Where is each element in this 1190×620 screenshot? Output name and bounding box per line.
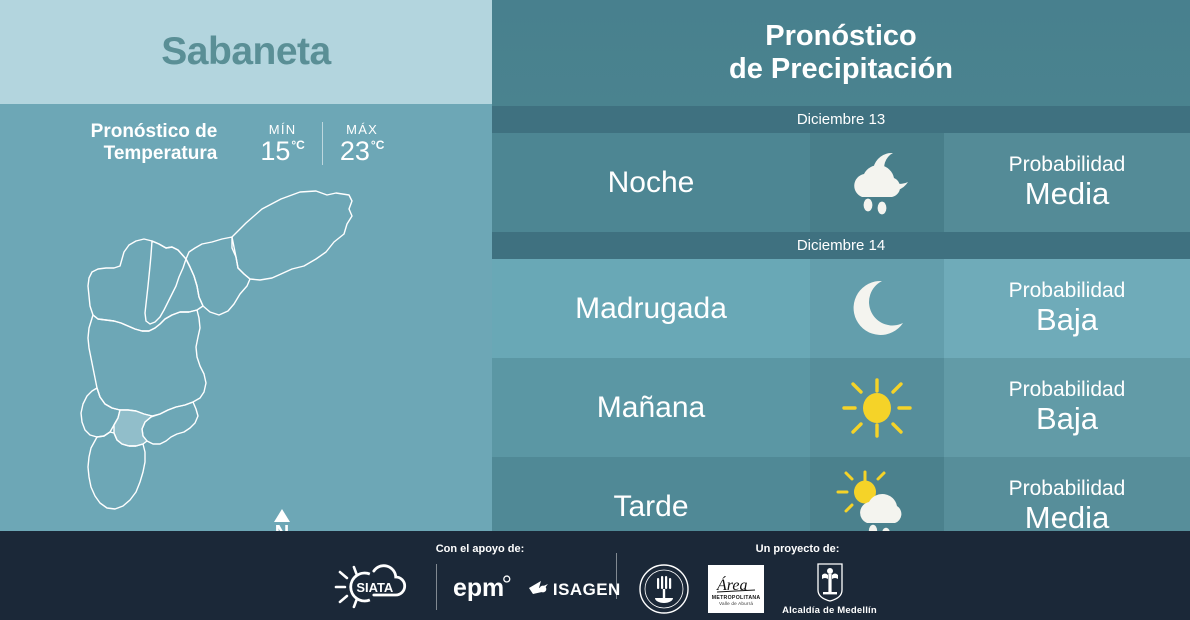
- date-label: Diciembre 14: [797, 237, 885, 254]
- area-sub2: Valle de Aburrá: [719, 601, 753, 606]
- temperature-values: MÍN 15 °C MÁX 23 °C: [243, 122, 401, 165]
- compass-arrow-icon: [274, 509, 290, 522]
- probability-cell-madrugada: Probabilidad Baja: [944, 259, 1190, 358]
- footer: Con el apoyo de: SIATA: [0, 531, 1190, 620]
- area-metropolitana-logo-icon[interactable]: Área METROPOLITANA Valle de Aburrá: [708, 565, 764, 613]
- epm-label: epm: [453, 574, 504, 602]
- forecast-row-madrugada[interactable]: Madrugada Probabilidad Baja: [492, 259, 1190, 358]
- temperature-min-unit: °C: [291, 139, 304, 151]
- temperature-max-unit: °C: [371, 139, 384, 151]
- weather-forecast-card: Sabaneta Pronóstico de Temperatura MÍN 1…: [0, 0, 1190, 620]
- temperature-max: MÁX 23 °C: [322, 122, 402, 165]
- isagen-logo-icon[interactable]: ISAGEN: [526, 572, 630, 602]
- date-label: Diciembre 13: [797, 111, 885, 128]
- weather-icon-cell-manana: [810, 358, 944, 457]
- period-label-noche: Noche: [492, 133, 810, 232]
- precipitation-panel: Pronóstico de Precipitación Diciembre 13…: [492, 0, 1190, 531]
- probability-level: Baja: [1036, 402, 1098, 437]
- temperature-title-line2: Temperatura: [91, 143, 218, 165]
- temperature-title-line1: Pronóstico de: [91, 121, 218, 143]
- temperature-max-value: 23: [340, 138, 370, 165]
- forecast-row-manana[interactable]: Mañana Probabili: [492, 358, 1190, 457]
- footer-support-logos: SIATA epm ISAGEN: [330, 562, 630, 612]
- probability-word: Probabilidad: [1009, 477, 1126, 501]
- footer-project-group: Un proyecto de:: [625, 543, 890, 616]
- date-separator-dec13: Diciembre 13: [492, 106, 1190, 133]
- period-label-madrugada: Madrugada: [492, 259, 810, 358]
- footer-divider: [436, 564, 437, 610]
- date-separator-dec14: Diciembre 14: [492, 232, 1190, 259]
- temperature-min: MÍN 15 °C: [243, 122, 322, 165]
- area-script-icon: Área: [714, 573, 758, 595]
- alcaldia-shield-icon: [815, 562, 845, 602]
- probability-cell-manana: Probabilidad Baja: [944, 358, 1190, 457]
- siata-logo-icon[interactable]: SIATA: [330, 562, 422, 612]
- left-panel: Sabaneta Pronóstico de Temperatura MÍN 1…: [0, 0, 492, 531]
- probability-cell-noche: Probabilidad Media: [944, 133, 1190, 232]
- alcaldia-label: Alcaldía de Medellín: [782, 605, 877, 616]
- probability-level: Baja: [1036, 303, 1098, 338]
- universidad-nacional-logo-icon[interactable]: [638, 563, 690, 615]
- temperature-max-value-wrap: 23 °C: [340, 138, 385, 165]
- forecast-row-noche[interactable]: Noche Probabilidad Media: [492, 133, 1190, 232]
- temperature-summary: Pronóstico de Temperatura MÍN 15 °C MÁX …: [0, 104, 492, 182]
- alcaldia-medellin-logo[interactable]: Alcaldía de Medellín: [782, 562, 877, 616]
- temperature-max-label: MÁX: [346, 122, 378, 137]
- temperature-title: Pronóstico de Temperatura: [91, 121, 218, 166]
- isagen-label: ISAGEN: [553, 580, 621, 599]
- moon-icon: [838, 273, 916, 345]
- probability-word: Probabilidad: [1009, 153, 1126, 177]
- period-label-manana: Mañana: [492, 358, 810, 457]
- sabaneta-highlight: [114, 410, 152, 446]
- precipitation-title-line2: de Precipitación: [729, 53, 953, 86]
- footer-support-group: Con el apoyo de: SIATA: [330, 543, 630, 612]
- probability-word: Probabilidad: [1009, 378, 1126, 402]
- municipality-map: N: [0, 182, 492, 531]
- map-boundaries: [81, 191, 352, 509]
- probability-word: Probabilidad: [1009, 279, 1126, 303]
- temperature-min-value-wrap: 15 °C: [260, 138, 305, 165]
- precipitation-title-line1: Pronóstico: [765, 20, 916, 53]
- isagen-mark-icon: [529, 581, 548, 594]
- sun-icon: [838, 372, 916, 444]
- weather-icon-cell-noche: [810, 133, 944, 232]
- registered-mark-icon: [503, 576, 509, 582]
- footer-support-caption: Con el apoyo de:: [330, 543, 630, 555]
- precipitation-header: Pronóstico de Precipitación: [492, 0, 1190, 106]
- footer-project-logos: Área METROPOLITANA Valle de Aburrá: [625, 562, 890, 616]
- temperature-min-value: 15: [260, 138, 290, 165]
- temperature-min-label: MÍN: [269, 122, 297, 137]
- moon-rain-icon: [838, 147, 916, 219]
- weather-icon-cell-madrugada: [810, 259, 944, 358]
- footer-divider: [616, 553, 617, 599]
- siata-label: SIATA: [356, 580, 393, 595]
- footer-project-caption: Un proyecto de:: [705, 543, 890, 555]
- city-band: Sabaneta: [0, 0, 492, 104]
- probability-level: Media: [1025, 177, 1109, 212]
- map-svg: [0, 182, 492, 531]
- page-title: Sabaneta: [161, 30, 330, 74]
- epm-logo-icon[interactable]: epm: [451, 569, 513, 605]
